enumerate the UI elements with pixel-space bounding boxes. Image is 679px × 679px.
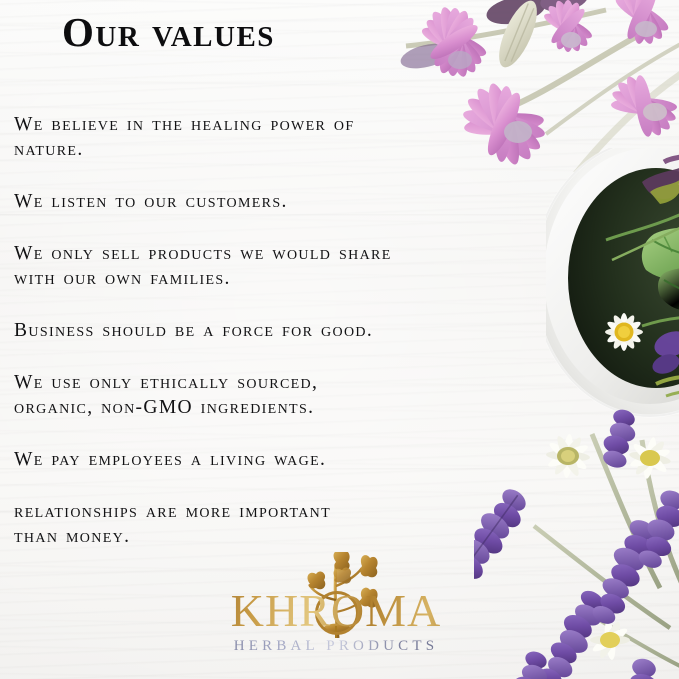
value-item: We pay employees a living wage. bbox=[14, 447, 542, 472]
value-line: We pay employees a living wage. bbox=[14, 447, 542, 472]
khroma-logo: KHROMA HERBAL PRODUCTS bbox=[186, 556, 486, 658]
value-line: nature. bbox=[14, 137, 542, 162]
logo-brand-name: KHROMA bbox=[186, 588, 486, 634]
value-line: Business should be a force for good. bbox=[14, 318, 542, 343]
value-line: We believe in the healing power of bbox=[14, 112, 542, 137]
value-item: We only sell products we would share wit… bbox=[14, 241, 542, 291]
value-line: than money. bbox=[14, 524, 542, 549]
value-line: relationships are more important bbox=[14, 499, 542, 524]
value-item: We believe in the healing power of natur… bbox=[14, 112, 542, 162]
value-line: with our own families. bbox=[14, 266, 542, 291]
value-item: relationships are more important than mo… bbox=[14, 499, 542, 549]
logo-tagline: HERBAL PRODUCTS bbox=[186, 638, 486, 655]
value-line: We use only ethically sourced, bbox=[14, 370, 542, 395]
value-line: We only sell products we would share bbox=[14, 241, 542, 266]
page-title: Our values bbox=[62, 12, 275, 53]
value-item: We use only ethically sourced, organic, … bbox=[14, 370, 542, 420]
value-item: Business should be a force for good. bbox=[14, 318, 542, 343]
value-item: We listen to our customers. bbox=[14, 189, 542, 214]
values-list: We believe in the healing power of natur… bbox=[14, 112, 542, 576]
our-values-poster: Our values We believe in the healing pow… bbox=[0, 0, 679, 679]
value-line: organic, non-GMO ingredients. bbox=[14, 395, 542, 420]
value-line: We listen to our customers. bbox=[14, 189, 542, 214]
